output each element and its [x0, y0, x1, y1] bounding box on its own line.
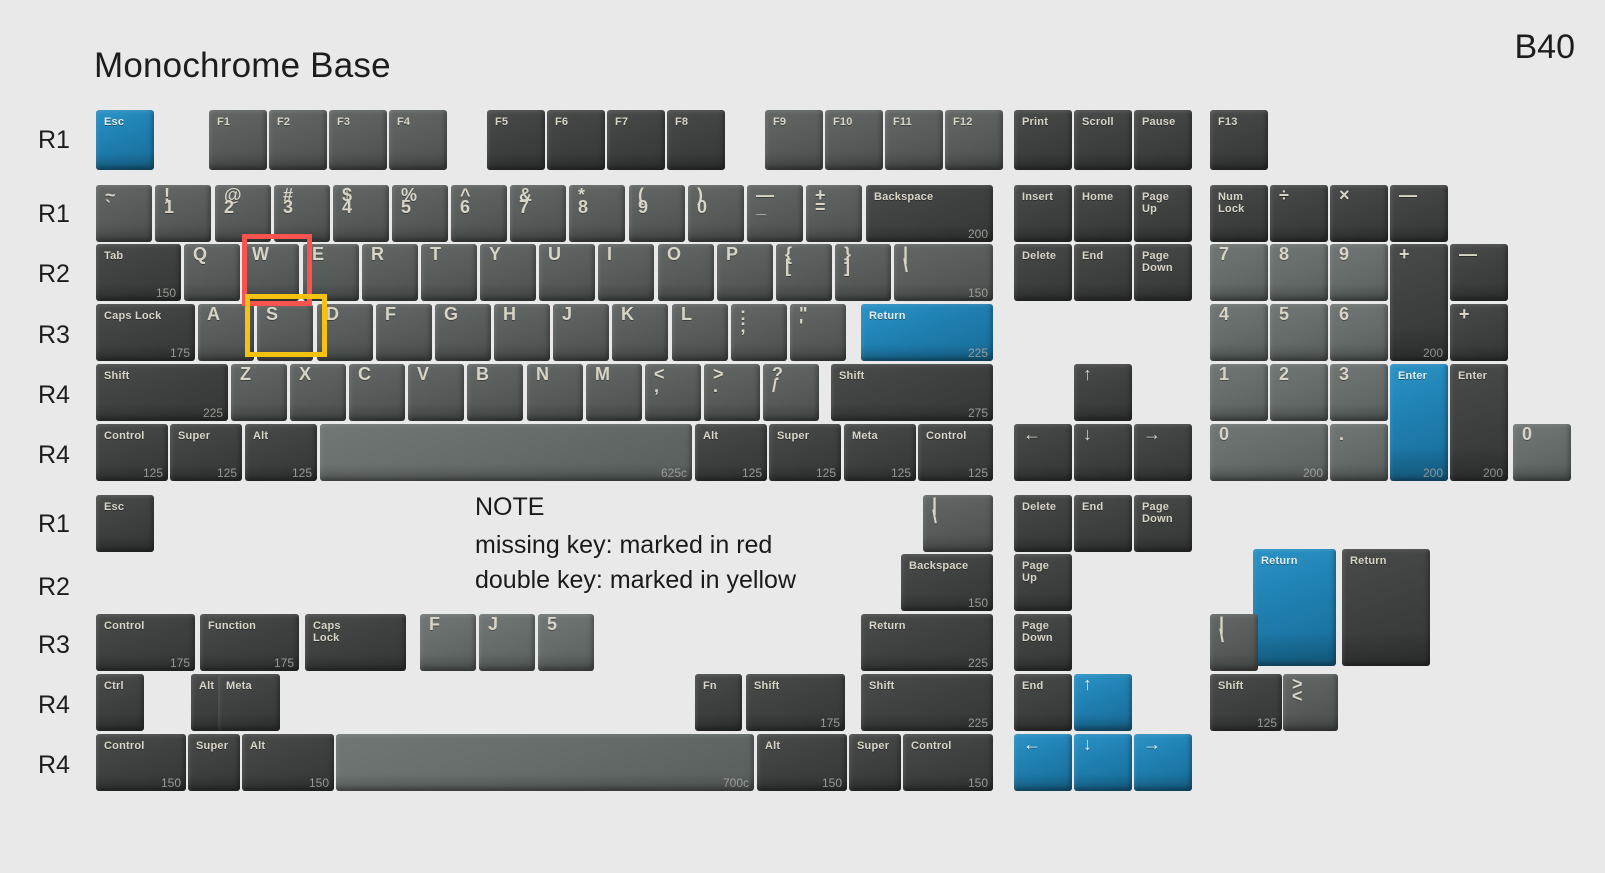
keycap[interactable]: Y	[480, 244, 536, 301]
keycap-legend: P	[726, 248, 738, 260]
keycap[interactable]: Enter200	[1450, 364, 1508, 481]
keycap[interactable]: ( 9	[629, 185, 685, 242]
keycap-legend: End	[1082, 501, 1103, 513]
keycap-legend: | \	[1219, 618, 1224, 642]
keycap-size-label: 150	[968, 286, 988, 300]
keycap-legend: ! 1	[164, 189, 174, 213]
keycap-size-label: 200	[1423, 466, 1443, 480]
keycap[interactable]: ^ 6	[451, 185, 507, 242]
keycap[interactable]: —	[1450, 244, 1508, 301]
keycap[interactable]: U	[539, 244, 595, 301]
keycap-legend: Alt	[253, 430, 268, 442]
keycap[interactable]: End	[1074, 244, 1132, 301]
keycap-legend: Ctrl	[104, 680, 124, 692]
keycap-size-label: 700c	[723, 776, 749, 790]
keycap[interactable]: Super125	[170, 424, 242, 481]
keycap-legend: Shift	[754, 680, 779, 692]
keycap-legend: V	[417, 368, 429, 380]
keycap[interactable]: Delete	[1014, 244, 1072, 301]
keycap[interactable]: Shift225	[96, 364, 228, 421]
keycap-legend: End	[1082, 250, 1103, 262]
keycap-legend: F	[385, 308, 396, 320]
keycap-size-label: 150	[309, 776, 329, 790]
keycap[interactable]: .	[1330, 424, 1388, 481]
keycap-legend: Control	[911, 740, 952, 752]
keycap-size-label: 175	[274, 656, 294, 670]
keycap[interactable]: Q	[184, 244, 240, 301]
keycap[interactable]: L	[672, 304, 728, 361]
keycap-legend: Alt	[199, 680, 214, 692]
keycap[interactable]: F1	[209, 110, 267, 170]
keycap[interactable]: ↓	[1074, 734, 1132, 791]
keycap-legend: +	[1399, 248, 1410, 260]
keycap[interactable]: H	[494, 304, 550, 361]
keycap-legend: Control	[104, 620, 145, 632]
keycap-size-label: 150	[156, 286, 176, 300]
keycap-legend: F12	[953, 116, 973, 128]
keycap-legend: Delete	[1022, 250, 1056, 262]
keycap[interactable]: End	[1074, 495, 1132, 552]
keycap-legend: G	[444, 308, 458, 320]
keycap-legend: Shift	[1218, 680, 1243, 692]
row-label: R4	[38, 381, 98, 410]
keycap-legend: > <	[1292, 678, 1303, 702]
keycap[interactable]: ↓	[1074, 424, 1132, 481]
keycap-size-label: 625c	[661, 466, 687, 480]
keycap-legend: E	[312, 248, 324, 260]
keycap[interactable]: Delete	[1014, 495, 1072, 552]
keycap[interactable]: ↑	[1074, 364, 1132, 421]
double-key-s-highlight	[245, 294, 327, 357]
keycap-legend: Q	[193, 248, 207, 260]
keycap-legend: →	[1143, 738, 1161, 750]
row-label: R4	[38, 441, 98, 470]
keycap-legend: F7	[615, 116, 628, 128]
keycap[interactable]: Control125	[96, 424, 168, 481]
keycap-legend: Super	[196, 740, 228, 752]
keycap-legend: 6	[1339, 308, 1349, 320]
keycap[interactable]: Return225	[861, 304, 993, 361]
keycap[interactable]: T	[421, 244, 477, 301]
keycap[interactable]: Control150	[903, 734, 993, 791]
keycap-legend: Delete	[1022, 501, 1056, 513]
keycap[interactable]: Z	[231, 364, 287, 421]
keycap[interactable]: F2	[269, 110, 327, 170]
keycap[interactable]: +200	[1390, 244, 1448, 361]
keycap-legend: A	[207, 308, 220, 320]
keycap-legend: Page Up	[1022, 560, 1049, 584]
keycap[interactable]: Tab150	[96, 244, 181, 301]
keycap-legend: F3	[337, 116, 350, 128]
keycap[interactable]: F5	[487, 110, 545, 170]
keycap-legend: →	[1143, 428, 1161, 440]
keycap[interactable]: Function175	[200, 614, 299, 671]
keycap[interactable]: J	[479, 614, 535, 671]
keycap[interactable]: 0	[1513, 424, 1571, 481]
keycap[interactable]: ? /	[763, 364, 819, 421]
keycap[interactable]: 5	[1270, 304, 1328, 361]
keycap-legend: Page Down	[1142, 501, 1173, 525]
keycap-legend: F	[429, 618, 440, 630]
keycap[interactable]: O	[658, 244, 714, 301]
keycap[interactable]: Caps Lock175	[96, 304, 195, 361]
keycap[interactable]: Shift175	[746, 674, 845, 731]
keycap-legend: 4	[1219, 308, 1229, 320]
keycap[interactable]: F8	[667, 110, 725, 170]
keycap-legend: F11	[893, 116, 912, 128]
keycap-size-label: 150	[822, 776, 842, 790]
keycap[interactable]: Backspace200	[866, 185, 993, 242]
keycap-legend: C	[358, 368, 371, 380]
keycap[interactable]: 9	[1330, 244, 1388, 301]
keycap[interactable]: ←	[1014, 424, 1072, 481]
keycap[interactable]: Alt125	[695, 424, 767, 481]
keycap-legend: ÷	[1279, 189, 1289, 201]
keycap[interactable]: > .	[704, 364, 760, 421]
keycap[interactable]: F4	[389, 110, 447, 170]
keycap[interactable]: 7	[1210, 244, 1268, 301]
keycap-size-label: 200	[968, 227, 988, 241]
keycap-legend: F2	[277, 116, 290, 128]
keycap-legend: O	[667, 248, 681, 260]
keycap[interactable]: Home	[1074, 185, 1132, 242]
keycap[interactable]: ←	[1014, 734, 1072, 791]
note-title: NOTE	[475, 493, 796, 522]
row-label: R2	[38, 573, 98, 602]
keycap-legend: Caps Lock	[104, 310, 161, 322]
keycap-legend: Return	[869, 620, 906, 632]
keycap-legend: | \	[903, 248, 908, 272]
keycap-legend: R	[371, 248, 384, 260]
keycap[interactable]: Print	[1014, 110, 1072, 170]
keycap-legend: * 8	[578, 189, 588, 213]
keycap-legend: Fn	[703, 680, 717, 692]
keycap-legend: — _	[756, 189, 774, 213]
keycap-legend: Home	[1082, 191, 1113, 203]
keycap-legend: % 5	[401, 189, 417, 213]
keycap-legend: Esc	[104, 501, 124, 513]
keycap[interactable]: N	[527, 364, 583, 421]
keycap[interactable]: 625c	[320, 424, 692, 481]
keycap-legend: ) 0	[697, 189, 707, 213]
keycap[interactable]: Alt125	[245, 424, 317, 481]
keycap[interactable]: Fn	[695, 674, 742, 731]
keycap[interactable]: | \	[923, 495, 993, 552]
keycap-legend: Super	[777, 430, 809, 442]
keycap-legend: ? /	[772, 368, 783, 392]
keycap-legend: Return	[1350, 555, 1387, 567]
keycap-legend: Scroll	[1082, 116, 1114, 128]
row-label: R1	[38, 510, 98, 539]
keycap-size-label: 125	[292, 466, 312, 480]
keycap[interactable]: 6	[1330, 304, 1388, 361]
keycap[interactable]: $ 4	[333, 185, 389, 242]
keycap-legend: Alt	[250, 740, 265, 752]
keycap-legend: ↑	[1083, 368, 1092, 380]
keycap-legend: Page Down	[1022, 620, 1053, 644]
keycap-size-label: 200	[1303, 466, 1323, 480]
keycap[interactable]: " '	[790, 304, 846, 361]
keycap-legend: .	[1339, 428, 1344, 440]
keycap[interactable]: Page Up	[1014, 554, 1072, 611]
keycap-legend: Backspace	[874, 191, 933, 203]
keycap-legend: | \	[932, 499, 937, 523]
keycap[interactable]: V	[408, 364, 464, 421]
keycap[interactable]: 4	[1210, 304, 1268, 361]
keycap-size-label: 200	[1423, 346, 1443, 360]
keycap-legend: End	[1022, 680, 1043, 692]
keycap[interactable]: Control150	[96, 734, 186, 791]
keycap[interactable]: F10	[825, 110, 883, 170]
keycap[interactable]: End	[1014, 674, 1072, 731]
keycap-legend: +	[1459, 308, 1470, 320]
keycap[interactable]: Meta125	[844, 424, 916, 481]
keycap-legend: ~ `	[105, 189, 116, 213]
keycap[interactable]: F13	[1210, 110, 1268, 170]
keycap-legend: Backspace	[909, 560, 968, 572]
keycap[interactable]: & 7	[510, 185, 566, 242]
keycap[interactable]: Return225	[861, 614, 993, 671]
keycap[interactable]: 0200	[1210, 424, 1328, 481]
row-label: R3	[38, 631, 98, 660]
keycap-legend: ( 9	[638, 189, 648, 213]
keycap[interactable]: →	[1134, 734, 1192, 791]
keycap[interactable]: Scroll	[1074, 110, 1132, 170]
keycap-legend: > .	[713, 368, 724, 392]
keycap[interactable]: Insert	[1014, 185, 1072, 242]
keycap-legend: Super	[857, 740, 889, 752]
keycap[interactable]: F9	[765, 110, 823, 170]
keycap-legend: ←	[1023, 738, 1041, 750]
keycap[interactable]: } ]	[835, 244, 891, 301]
keycap-legend: I	[607, 248, 612, 260]
keycap-legend: Control	[104, 740, 145, 752]
keycap[interactable]: | \150	[894, 244, 993, 301]
keycap-legend: Super	[178, 430, 210, 442]
keycap[interactable]: ~ `	[96, 185, 152, 242]
keycap-legend: < ,	[654, 368, 665, 392]
keycap[interactable]: Caps Lock	[305, 614, 406, 671]
keycap-legend: Enter	[1458, 370, 1487, 382]
keycap-size-label: 175	[170, 656, 190, 670]
keycap[interactable]: Pause	[1134, 110, 1192, 170]
row-label: R1	[38, 200, 98, 229]
keycap-legend: Num Lock	[1218, 191, 1244, 215]
keycap[interactable]: Esc	[96, 110, 154, 170]
keycap-size-label: 125	[1257, 716, 1277, 730]
keycap-legend: K	[621, 308, 634, 320]
keycap-size-label: 200	[1483, 466, 1503, 480]
keycap-legend: ↓	[1083, 428, 1092, 440]
keycap-legend: Shift	[104, 370, 129, 382]
keycap-size-label: 150	[968, 596, 988, 610]
keycap-legend: @ 2	[224, 189, 242, 213]
keycap[interactable]: Shift225	[861, 674, 993, 731]
keycap[interactable]: Shift125	[1210, 674, 1282, 731]
keycap[interactable]: F7	[607, 110, 665, 170]
keycap[interactable]: ) 0	[688, 185, 744, 242]
keycap-legend: 0	[1219, 428, 1229, 440]
keycap-legend: Control	[926, 430, 967, 442]
keycap[interactable]: Return	[1253, 549, 1336, 666]
keycap-legend: H	[503, 308, 516, 320]
keycap[interactable]: G	[435, 304, 491, 361]
keycap[interactable]: Super125	[769, 424, 841, 481]
keycap-legend: & 7	[519, 189, 532, 213]
keycap[interactable]: Page Down	[1134, 244, 1192, 301]
keycap-legend: Meta	[226, 680, 252, 692]
keycap[interactable]: 3	[1330, 364, 1388, 421]
keycap[interactable]: —	[1390, 185, 1448, 242]
keycap-legend: Enter	[1398, 370, 1427, 382]
keycap-legend: 0	[1522, 428, 1532, 440]
keycap[interactable]: ! 1	[155, 185, 211, 242]
keycap[interactable]: { [	[776, 244, 832, 301]
keycap-legend: : ;	[740, 308, 746, 332]
keycap-legend: Alt	[703, 430, 718, 442]
keycap-legend: Z	[240, 368, 251, 380]
keycap[interactable]: 2	[1270, 364, 1328, 421]
keycap-size-label: 125	[891, 466, 911, 480]
keycap[interactable]: > <	[1283, 674, 1338, 731]
keycap[interactable]: Meta	[218, 674, 280, 731]
keycap[interactable]: F	[376, 304, 432, 361]
keycap[interactable]: ÷	[1270, 185, 1328, 242]
keycap[interactable]: Ctrl	[96, 674, 144, 731]
keycap-legend: 7	[1219, 248, 1229, 260]
keycap[interactable]: →	[1134, 424, 1192, 481]
keycap[interactable]: F	[420, 614, 476, 671]
keycap[interactable]: C	[349, 364, 405, 421]
keycap[interactable]: Alt150	[757, 734, 847, 791]
keycap[interactable]: : ;	[731, 304, 787, 361]
keycap-legend: M	[595, 368, 610, 380]
keycap[interactable]: F3	[329, 110, 387, 170]
keycap[interactable]: | \	[1210, 614, 1258, 671]
keycap[interactable]: Backspace150	[901, 554, 993, 611]
keycap[interactable]: — _	[747, 185, 803, 242]
note-line-missing: missing key: marked in red	[475, 531, 796, 560]
keycap-legend: D	[326, 308, 339, 320]
keycap[interactable]: F6	[547, 110, 605, 170]
keycap-legend: X	[299, 368, 311, 380]
keycap-legend: F6	[555, 116, 568, 128]
keycap-legend: + =	[815, 189, 826, 213]
keycap-legend: Page Up	[1142, 191, 1169, 215]
keycap-legend: F9	[773, 116, 786, 128]
keycap[interactable]: R	[362, 244, 418, 301]
keycap[interactable]: M	[586, 364, 642, 421]
keycap[interactable]: Control125	[918, 424, 993, 481]
keycap-size-label: 125	[968, 466, 988, 480]
keycap[interactable]: F11	[885, 110, 943, 170]
keycap[interactable]: < ,	[645, 364, 701, 421]
keycap[interactable]: Alt150	[242, 734, 334, 791]
keycap[interactable]: Page Down	[1014, 614, 1072, 671]
keycap[interactable]: X	[290, 364, 346, 421]
keycap-legend: Pause	[1142, 116, 1175, 128]
keycap-legend: $ 4	[342, 189, 352, 213]
keycap-legend: F4	[397, 116, 410, 128]
keycap[interactable]: 1	[1210, 364, 1268, 421]
keycap[interactable]: Super	[849, 734, 901, 791]
keycap[interactable]: + =	[806, 185, 862, 242]
keycap-legend: 9	[1339, 248, 1349, 260]
keycap-legend: Shift	[869, 680, 894, 692]
page-title: Monochrome Base	[94, 46, 391, 86]
keycap-legend: ×	[1339, 189, 1350, 201]
keycap[interactable]: K	[612, 304, 668, 361]
keycap-legend: ↑	[1083, 678, 1092, 690]
keycap-size-label: 275	[968, 406, 988, 420]
keycap-legend: Return	[1261, 555, 1298, 567]
keycap-legend: J	[488, 618, 498, 630]
keycap-size-label: 225	[968, 346, 988, 360]
keycap[interactable]: P	[717, 244, 773, 301]
keycap-size-label: 125	[816, 466, 836, 480]
keycap[interactable]: Return	[1342, 549, 1430, 666]
keycap-legend: { [	[785, 248, 792, 272]
keycap-legend: 3	[1339, 368, 1349, 380]
keycap[interactable]: % 5	[392, 185, 448, 242]
keycap-legend: # 3	[283, 189, 293, 213]
keycap-size-label: 225	[968, 656, 988, 670]
keycap-legend: F13	[1218, 116, 1238, 128]
keycap-legend: " '	[799, 308, 808, 332]
keycap[interactable]: ↑	[1074, 674, 1132, 731]
keycap-legend: Control	[104, 430, 145, 442]
note-line-double: double key: marked in yellow	[475, 566, 796, 595]
keycap[interactable]: ×	[1330, 185, 1388, 242]
keycap[interactable]: 8	[1270, 244, 1328, 301]
keycap-legend: ^ 6	[460, 189, 471, 213]
keycap[interactable]: +	[1450, 304, 1508, 361]
keycap-size-label: 175	[820, 716, 840, 730]
keycap[interactable]: I	[598, 244, 654, 301]
keycap-legend: Return	[869, 310, 906, 322]
keycap[interactable]: Esc	[96, 495, 154, 552]
keycap-legend: L	[681, 308, 692, 320]
keycap[interactable]: Enter200	[1390, 364, 1448, 481]
keycap-legend: Print	[1022, 116, 1048, 128]
keycap[interactable]: B	[467, 364, 523, 421]
keycap[interactable]: Page Down	[1134, 495, 1192, 552]
keycap[interactable]: Num Lock	[1210, 185, 1268, 242]
keycap[interactable]: 700c	[336, 734, 754, 791]
keycap-legend: F8	[675, 116, 688, 128]
keycap-legend: 5	[547, 618, 557, 630]
keycap[interactable]: F12	[945, 110, 1003, 170]
keycap-legend: B	[476, 368, 489, 380]
keycap-legend: —	[1459, 248, 1477, 260]
keycap-size-label: 125	[143, 466, 163, 480]
keycap-legend: } ]	[844, 248, 851, 272]
row-label: R2	[38, 260, 98, 289]
keycap-legend: ↓	[1083, 738, 1092, 750]
keycap[interactable]: Shift275	[831, 364, 993, 421]
keycap[interactable]: 5	[538, 614, 594, 671]
row-label: R4	[38, 751, 98, 780]
keycap[interactable]: Super	[188, 734, 240, 791]
keycap[interactable]: Page Up	[1134, 185, 1192, 242]
keycap-legend: T	[430, 248, 441, 260]
keycap-legend: F5	[495, 116, 508, 128]
keycap[interactable]: Control175	[96, 614, 195, 671]
keycap-legend: ←	[1023, 428, 1041, 440]
keycap[interactable]: * 8	[569, 185, 625, 242]
keycap-size-label: 150	[968, 776, 988, 790]
keycap[interactable]: J	[553, 304, 609, 361]
